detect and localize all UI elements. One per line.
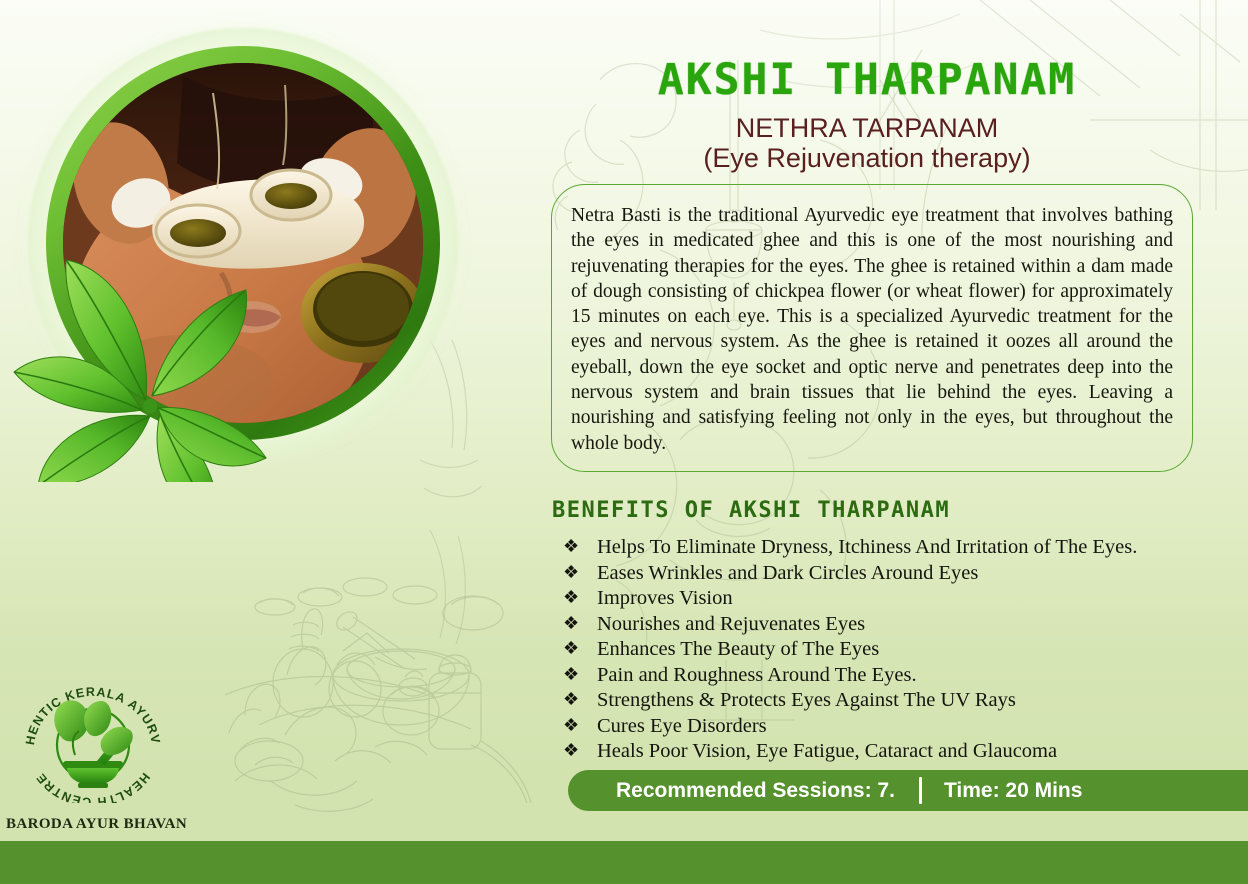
bullet-diamond-icon: ❖	[563, 534, 579, 560]
benefit-item-label: Improves Vision	[597, 587, 733, 609]
recommended-sessions-label: Recommended Sessions: 7.	[616, 779, 895, 803]
benefit-item: ❖Nourishes and Rejuvenates Eyes	[550, 612, 1230, 638]
benefit-item-label: Cures Eye Disorders	[597, 715, 767, 737]
bullet-diamond-icon: ❖	[563, 611, 579, 637]
poster-root: AUTHENTIC KERALA AYURVEDA HEALTH CENTRE …	[0, 0, 1248, 884]
benefit-item: ❖Strengthens & Protects Eyes Against The…	[550, 688, 1230, 714]
benefit-item-label: Heals Poor Vision, Eye Fatigue, Cataract…	[597, 740, 1057, 762]
benefit-item: ❖Helps To Eliminate Dryness, Itchiness A…	[550, 535, 1230, 561]
company-logo: AUTHENTIC KERALA AYURVEDA HEALTH CENTRE	[16, 683, 171, 803]
bullet-diamond-icon: ❖	[563, 662, 579, 688]
benefit-item-label: Nourishes and Rejuvenates Eyes	[597, 613, 865, 635]
benefit-item: ❖Pain and Roughness Around The Eyes.	[550, 663, 1230, 689]
benefit-item-label: Pain and Roughness Around The Eyes.	[597, 664, 917, 686]
subtitle-primary: NETHRA TARPANAM	[530, 113, 1204, 144]
benefit-item: ❖Enhances The Beauty of The Eyes	[550, 637, 1230, 663]
benefit-item-label: Strengthens & Protects Eyes Against The …	[597, 689, 1016, 711]
bullet-diamond-icon: ❖	[563, 585, 579, 611]
bullet-diamond-icon: ❖	[563, 560, 579, 586]
benefit-item: ❖Eases Wrinkles and Dark Circles Around …	[550, 561, 1230, 587]
bullet-diamond-icon: ❖	[563, 636, 579, 662]
leaf-cluster-icon	[10, 232, 300, 482]
benefit-item-label: Enhances The Beauty of The Eyes	[597, 638, 879, 660]
brand-name: BARODA AYUR BHAVAN	[6, 816, 187, 833]
benefit-item-label: Eases Wrinkles and Dark Circles Around E…	[597, 562, 978, 584]
time-label: Time: 20 Mins	[944, 779, 1083, 803]
description-box: Netra Basti is the traditional Ayurvedic…	[551, 184, 1193, 472]
bullet-diamond-icon: ❖	[563, 738, 579, 764]
benefit-item: ❖Heals Poor Vision, Eye Fatigue, Catarac…	[550, 739, 1230, 765]
bar-divider	[919, 777, 922, 804]
benefit-item: ❖Cures Eye Disorders	[550, 714, 1230, 740]
benefit-item: ❖Improves Vision	[550, 586, 1230, 612]
page-title: AKSHI THARPANAM	[530, 55, 1204, 105]
benefits-heading: BENEFITS OF AKSHI THARPANAM	[552, 498, 950, 523]
bullet-diamond-icon: ❖	[563, 713, 579, 739]
description-text: Netra Basti is the traditional Ayurvedic…	[571, 203, 1173, 456]
content-column: AKSHI THARPANAM NETHRA TARPANAM (Eye Rej…	[530, 0, 1248, 884]
bottom-green-strip	[0, 841, 1248, 884]
session-info-bar: Recommended Sessions: 7. Time: 20 Mins	[568, 770, 1248, 811]
benefits-list: ❖Helps To Eliminate Dryness, Itchiness A…	[550, 535, 1230, 765]
benefit-item-label: Helps To Eliminate Dryness, Itchiness An…	[597, 536, 1137, 558]
bullet-diamond-icon: ❖	[563, 687, 579, 713]
subtitle-secondary: (Eye Rejuvenation therapy)	[530, 143, 1204, 174]
